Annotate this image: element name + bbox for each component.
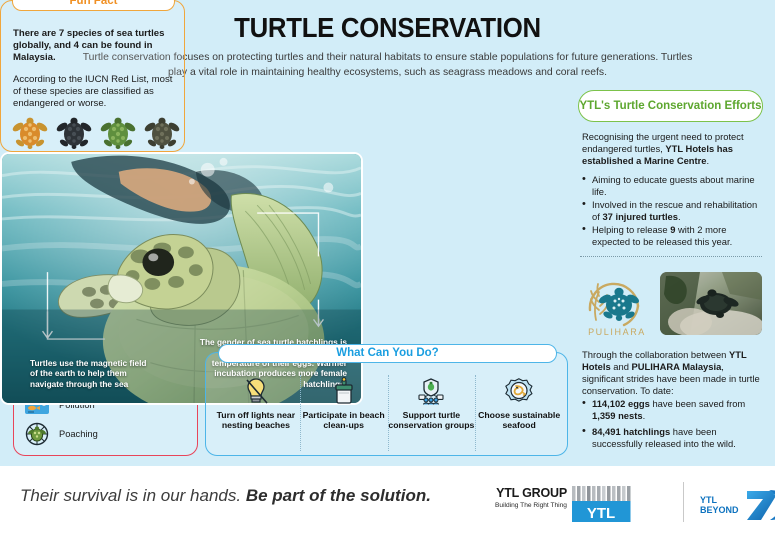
turtle-species-hawksbill-turtle bbox=[11, 114, 49, 150]
beach-cleanup-bucket-icon bbox=[329, 376, 359, 406]
ytl-effort-bullet-2: Involved in the rescue and rehabilitatio… bbox=[582, 199, 764, 223]
ytl-efforts-intro: Recognising the urgent need to protect e… bbox=[582, 131, 764, 167]
turtle-hatchling-photo bbox=[660, 272, 762, 335]
turtle-species-green-turtle bbox=[99, 114, 137, 150]
ytl-effort-bullet-1: Aiming to educate guests about marine li… bbox=[582, 174, 764, 198]
ytl-group-mark-icon: YTL bbox=[572, 486, 634, 522]
logo-divider bbox=[683, 482, 684, 522]
pulihara-turtle-mark: PULIHARA bbox=[578, 272, 656, 340]
threat-item-poaching: Poaching bbox=[24, 420, 192, 448]
what-can-you-do-heading: What Can You Do? bbox=[218, 344, 557, 363]
collaboration-intro: Through the collaboration between YTL Ho… bbox=[582, 349, 764, 397]
sustainable-seafood-icon bbox=[504, 376, 534, 406]
action-label: Participate in beach clean-ups bbox=[300, 410, 388, 431]
fun-fact-heading: Fun Fact bbox=[12, 0, 175, 11]
ytl-effort-bullet-3: Helping to release 9 with 2 more expecte… bbox=[582, 224, 764, 248]
threat-label: Poaching bbox=[59, 429, 98, 440]
svg-text:YTL: YTL bbox=[587, 505, 615, 522]
fun-fact-card: Fun Fact There are 7 species of sea turt… bbox=[0, 0, 185, 152]
turtle-species-leatherback-turtle bbox=[55, 114, 93, 150]
section-divider bbox=[580, 256, 762, 257]
action-label: Choose sustainable seafood bbox=[475, 410, 563, 431]
hero-caption-left: Turtles use the magnetic field of the ea… bbox=[30, 358, 150, 389]
ytl-group-name: YTL GROUP bbox=[495, 486, 567, 500]
what-can-you-do-card: What Can You Do? Turn off lights near ne… bbox=[205, 352, 568, 456]
ytl-beyond-swoosh-icon bbox=[745, 488, 775, 522]
ytl-group-tagline: Building The Right Thing bbox=[495, 502, 567, 509]
collaboration-bullet-2: 84,491 hatchlings have been successfully… bbox=[582, 426, 764, 450]
what-can-you-do-actions: Turn off lights near nesting beachesPart… bbox=[212, 373, 563, 453]
turtle-species-olive-ridley-turtle bbox=[143, 114, 181, 150]
footer: Their survival is in our hands. Be part … bbox=[0, 466, 775, 548]
action-label: Turn off lights near nesting beaches bbox=[212, 410, 300, 431]
ytl-beyond-logo: YTL BEYOND bbox=[700, 488, 775, 522]
action-conservation-group: Support turtle conservation groups bbox=[388, 373, 476, 453]
collaboration-bullet-1: 114,102 eggs have been saved from 1,359 … bbox=[582, 398, 764, 422]
footer-logos: YTL GROUP Building The Right Thing bbox=[495, 480, 765, 528]
fun-fact-paragraph-2: According to the IUCN Red List, most of … bbox=[13, 74, 176, 111]
action-sustainable-seafood: Choose sustainable seafood bbox=[475, 373, 563, 453]
conservation-group-icon bbox=[416, 376, 446, 406]
action-lightbulb-off: Turn off lights near nesting beaches bbox=[212, 373, 300, 453]
infographic-poster: TURTLE CONSERVATION Turtle conservation … bbox=[0, 0, 775, 548]
ytl-group-logo: YTL GROUP Building The Right Thing bbox=[495, 486, 634, 522]
ytl-beyond-line-2: BEYOND bbox=[700, 505, 739, 515]
lightbulb-off-icon bbox=[241, 376, 271, 406]
turtle-species-illustrations bbox=[11, 114, 179, 150]
pulihara-logo: PULIHARA bbox=[578, 272, 656, 340]
ytl-efforts-heading: YTL's Turtle Conservation Efforts bbox=[578, 90, 763, 122]
ytl-beyond-line-1: YTL bbox=[700, 495, 739, 505]
fun-fact-paragraph-1: There are 7 species of sea turtles globa… bbox=[13, 28, 176, 65]
svg-text:PULIHARA: PULIHARA bbox=[588, 327, 646, 337]
action-label: Support turtle conservation groups bbox=[388, 410, 476, 431]
footer-tagline: Their survival is in our hands. Be part … bbox=[20, 486, 431, 506]
action-beach-cleanup-bucket: Participate in beach clean-ups bbox=[300, 373, 388, 453]
poaching-icon bbox=[24, 421, 50, 447]
